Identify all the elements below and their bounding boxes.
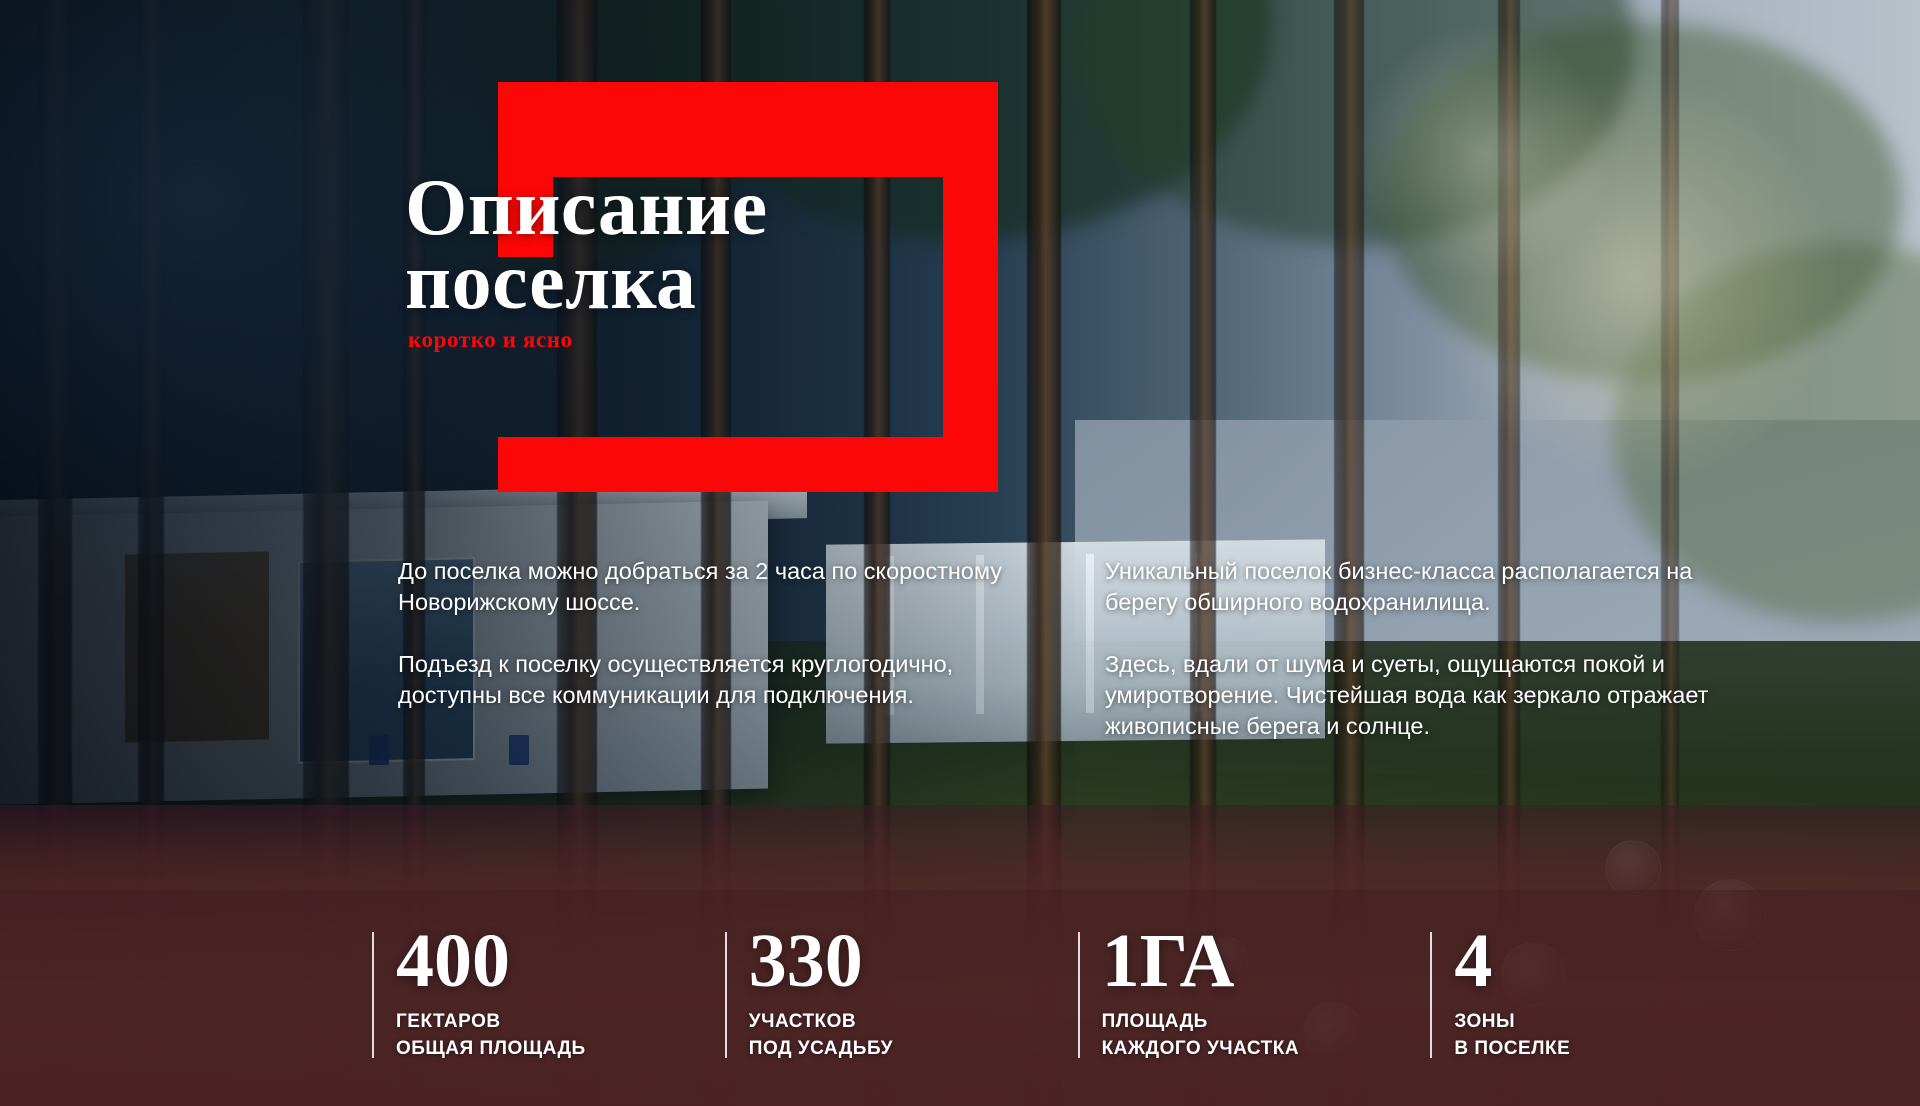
stat-block-plot-area: 1ГА ПЛОЩАДЬ КАЖДОГО УЧАСТКА <box>1078 928 1431 1060</box>
stat-value: 400 <box>396 928 725 995</box>
page-title-line-1: Описание <box>405 172 1025 246</box>
stat-value: 1ГА <box>1102 928 1431 995</box>
stat-label-line-1: ПЛОЩАДЬ <box>1102 1011 1431 1033</box>
hero-title-block: Описание поселка коротко и ясно <box>405 172 1025 353</box>
red-frame-top-bar <box>498 82 998 177</box>
page-title-line-2: поселка <box>405 246 1025 320</box>
hero-slide: Описание поселка коротко и ясно До посел… <box>0 0 1920 1106</box>
stat-label-line-1: ЗОНЫ <box>1454 1011 1672 1033</box>
stat-label-line-2: В ПОСЕЛКЕ <box>1454 1038 1672 1060</box>
sun-flare-secondary <box>1353 22 1613 282</box>
stat-value: 4 <box>1454 928 1672 995</box>
stat-block-plots: 330 УЧАСТКОВ ПОД УСАДЬБУ <box>725 928 1078 1060</box>
stat-block-hectares: 400 ГЕКТАРОВ ОБЩАЯ ПЛОЩАДЬ <box>372 928 725 1060</box>
red-frame-bottom-bar <box>498 437 998 492</box>
stats-row: 400 ГЕКТАРОВ ОБЩАЯ ПЛОЩАДЬ 330 УЧАСТКОВ … <box>372 928 1672 1060</box>
stat-label-line-2: ОБЩАЯ ПЛОЩАДЬ <box>396 1038 725 1060</box>
description-columns: До поселка можно добраться за 2 часа по … <box>398 556 1748 742</box>
stat-label-line-2: КАЖДОГО УЧАСТКА <box>1102 1038 1431 1060</box>
stat-label-line-1: ГЕКТАРОВ <box>396 1011 725 1033</box>
stat-value: 330 <box>749 928 1078 995</box>
description-paragraph: Здесь, вдали от шума и суеты, ощущаются … <box>1105 649 1748 743</box>
stat-label-line-2: ПОД УСАДЬБУ <box>749 1038 1078 1060</box>
stat-label-line-1: УЧАСТКОВ <box>749 1011 1078 1033</box>
description-column-right: Уникальный поселок бизнес-класса распола… <box>1105 556 1748 742</box>
stat-block-zones: 4 ЗОНЫ В ПОСЕЛКЕ <box>1430 928 1672 1060</box>
description-column-left: До поселка можно добраться за 2 часа по … <box>398 556 1041 742</box>
page-subtitle: коротко и ясно <box>408 327 1025 353</box>
description-paragraph: До поселка можно добраться за 2 часа по … <box>398 556 1041 619</box>
description-paragraph: Подъезд к поселку осуществляется круглог… <box>398 649 1041 712</box>
description-paragraph: Уникальный поселок бизнес-класса распола… <box>1105 556 1748 619</box>
